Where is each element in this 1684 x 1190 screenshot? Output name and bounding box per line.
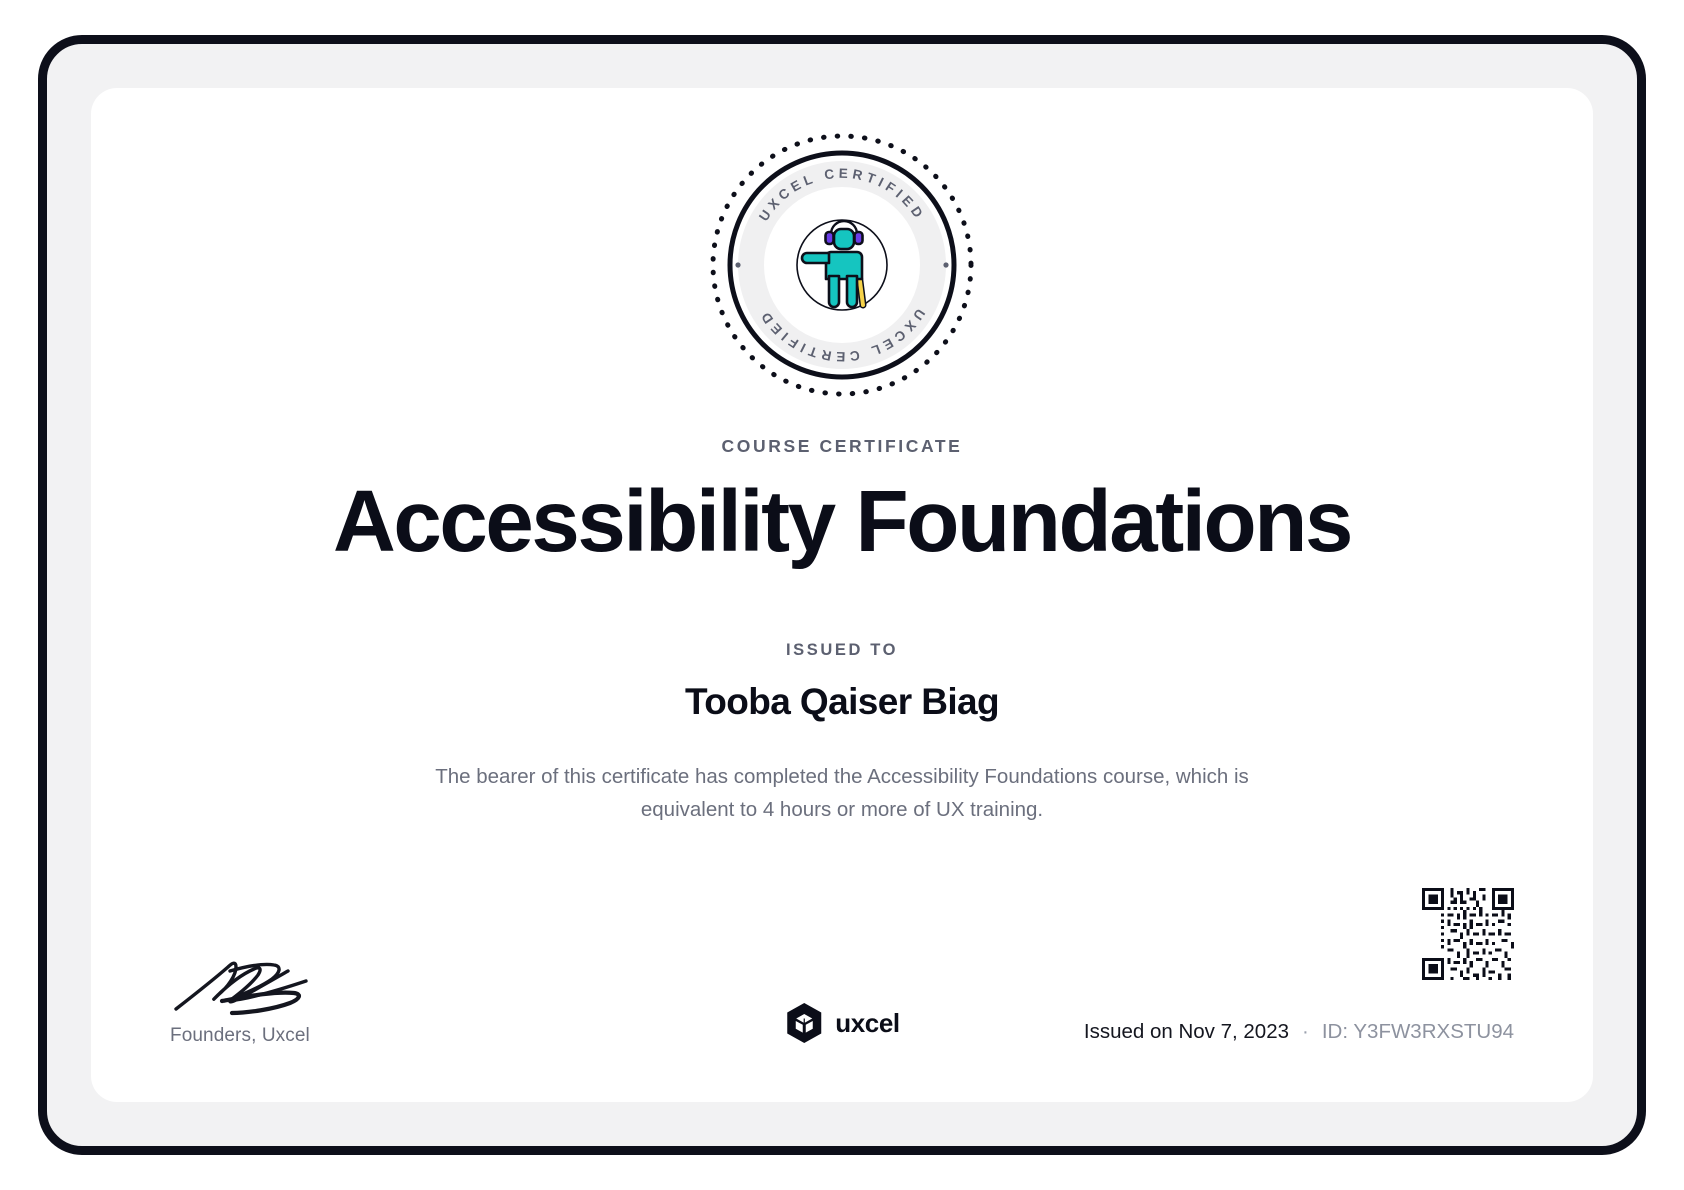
certificate-type-label: COURSE CERTIFICATE (91, 436, 1593, 457)
qr-code-icon (1422, 888, 1514, 980)
course-title: Accessibility Foundations (91, 478, 1593, 565)
signature-block: Founders, Uxcel (170, 931, 500, 1047)
verification-qr-code[interactable] (1422, 888, 1514, 980)
issued-on-date: Issued on Nov 7, 2023 (1084, 1020, 1289, 1044)
founders-label: Founders, Uxcel (170, 1025, 500, 1047)
certificate-card: UXCEL CERTIFIED UXCEL CERTIFIED (91, 88, 1593, 1102)
certified-badge-icon: UXCEL CERTIFIED UXCEL CERTIFIED (707, 130, 977, 400)
description-line-1: The bearer of this certificate has compl… (435, 765, 1097, 788)
certificate-id: ID: Y3FW3RXSTU94 (1322, 1020, 1514, 1044)
uxcel-brand: uxcel (784, 1002, 900, 1044)
founder-signatures (170, 931, 500, 1021)
certificate-frame: UXCEL CERTIFIED UXCEL CERTIFIED (38, 35, 1646, 1155)
meta-separator: · (1302, 1020, 1309, 1044)
uxcel-logo-icon (784, 1002, 824, 1044)
recipient-name: Tooba Qaiser Biag (91, 681, 1593, 723)
certificate-meta: Issued on Nov 7, 2023 · ID: Y3FW3RXSTU94 (1084, 1020, 1514, 1044)
uxcel-wordmark: uxcel (835, 1008, 900, 1039)
issued-to-label: ISSUED TO (91, 641, 1593, 660)
certified-badge: UXCEL CERTIFIED UXCEL CERTIFIED (707, 130, 977, 400)
certificate-description: The bearer of this certificate has compl… (427, 760, 1257, 826)
signature-icon (170, 931, 470, 1021)
